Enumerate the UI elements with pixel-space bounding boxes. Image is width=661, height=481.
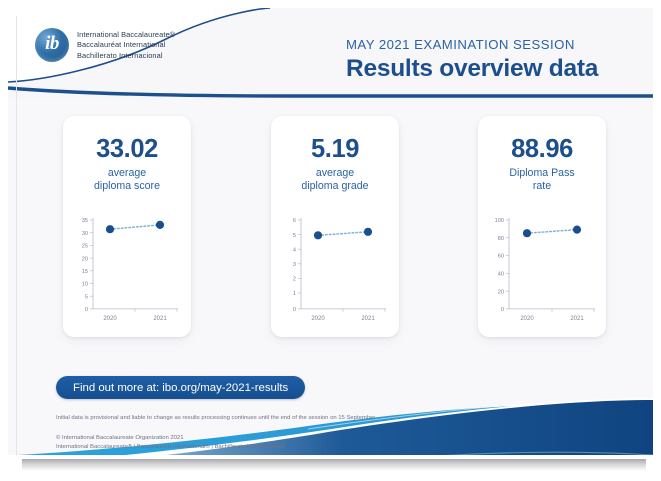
x-tick-2021: 2021 — [570, 316, 584, 322]
svg-text:15: 15 — [82, 269, 88, 275]
y-axis-ticks: 6 5 4 3 2 1 0 — [293, 218, 296, 313]
ib-logo-line-es: Bachillerato Internacional — [77, 51, 175, 60]
stat-caption-line1: Diploma Pass — [478, 167, 606, 180]
infographic-page: ib International Baccalaureate® Baccalau… — [0, 0, 661, 481]
page-title: Results overview data — [346, 55, 598, 83]
svg-text:4: 4 — [293, 247, 296, 253]
svg-text:80: 80 — [498, 236, 504, 242]
data-point-2020 — [106, 225, 114, 233]
stat-caption-line1: average — [271, 167, 399, 180]
svg-text:60: 60 — [498, 254, 504, 260]
trademark-line: International Baccalaureate® | Baccalaur… — [56, 443, 476, 452]
frame-edge-left — [16, 16, 17, 455]
trademark-sep-1: | — [134, 444, 136, 450]
x-tick-2020: 2020 — [311, 316, 325, 322]
stat-card-average-diploma-grade: 5.19 average diploma grade 6 5 4 3 2 1 0 — [271, 116, 399, 337]
data-point-2020 — [314, 231, 322, 239]
trend-chart-diploma-pass-rate: 100 80 60 40 20 0 — [481, 210, 603, 328]
svg-text:0: 0 — [293, 307, 296, 313]
x-tick-2020: 2020 — [520, 316, 534, 322]
svg-text:5: 5 — [85, 294, 88, 300]
svg-text:20: 20 — [498, 289, 504, 295]
page-canvas: ib International Baccalaureate® Baccalau… — [8, 8, 653, 455]
find-out-more-button[interactable]: Find out more at: ibo.org/may-2021-resul… — [56, 376, 305, 399]
data-point-2021 — [156, 221, 164, 229]
trend-chart-average-diploma-grade: 6 5 4 3 2 1 0 — [274, 210, 396, 328]
frame-left — [0, 8, 8, 455]
ib-logo-line-en: International Baccalaureate® — [77, 30, 175, 39]
svg-text:1: 1 — [293, 291, 296, 297]
svg-text:2: 2 — [293, 277, 296, 283]
svg-text:30: 30 — [82, 231, 88, 237]
trend-chart-average-diploma-score: 35 30 25 20 15 10 5 0 — [66, 210, 188, 328]
stat-value: 33.02 — [63, 135, 191, 164]
data-point-2021 — [573, 226, 581, 234]
y-axis-ticks: 35 30 25 20 15 10 5 0 — [82, 218, 88, 313]
page-drop-shadow — [22, 459, 646, 471]
stat-caption: average diploma grade — [271, 167, 399, 194]
data-point-2021 — [364, 228, 372, 236]
svg-text:5: 5 — [293, 233, 296, 239]
svg-text:25: 25 — [82, 244, 88, 250]
ib-logo-mark-text: ib — [35, 28, 69, 62]
x-tick-2021: 2021 — [361, 316, 375, 322]
svg-text:20: 20 — [82, 256, 88, 262]
trademark-fr: Baccalauréat International® — [137, 444, 210, 450]
ib-logo: ib International Baccalaureate® Baccalau… — [35, 28, 175, 62]
stat-caption: average diploma score — [63, 167, 191, 194]
stat-caption: Diploma Pass rate — [478, 167, 606, 194]
trademark-es: Bachillerato Internacional® — [214, 444, 285, 450]
frame-right — [653, 8, 661, 455]
copyright-block: © International Baccalaureate Organizati… — [56, 434, 476, 453]
stat-caption-line1: average — [63, 167, 191, 180]
header-kicker: MAY 2021 EXAMINATION SESSION — [346, 37, 575, 52]
svg-text:0: 0 — [501, 307, 504, 313]
trademark-en: International Baccalaureate® — [56, 444, 132, 450]
footnote-text: Initial data is provisional and liable t… — [56, 414, 476, 423]
y-axis-ticks: 100 80 60 40 20 0 — [495, 218, 504, 313]
x-tick-2021: 2021 — [153, 316, 167, 322]
svg-text:6: 6 — [293, 218, 296, 224]
stat-value: 5.19 — [271, 135, 399, 164]
stat-card-diploma-pass-rate: 88.96 Diploma Pass rate 100 80 60 40 20 … — [478, 116, 606, 337]
svg-text:10: 10 — [82, 282, 88, 288]
trademark-sep-2: | — [211, 444, 213, 450]
stat-value: 88.96 — [478, 135, 606, 164]
ib-logo-badge-icon: ib — [35, 28, 69, 62]
stat-caption-line2: rate — [478, 180, 606, 193]
svg-text:100: 100 — [495, 218, 504, 224]
data-point-2020 — [523, 229, 531, 237]
stat-caption-line2: diploma score — [63, 180, 191, 193]
svg-text:35: 35 — [82, 218, 88, 224]
frame-top — [0, 0, 661, 8]
svg-text:40: 40 — [498, 272, 504, 278]
stat-caption-line2: diploma grade — [271, 180, 399, 193]
ib-logo-wordmark: International Baccalaureate® Baccalauréa… — [77, 30, 175, 60]
svg-text:3: 3 — [293, 262, 296, 268]
ib-logo-line-fr: Baccalauréat International — [77, 40, 175, 49]
header-banner: ib International Baccalaureate® Baccalau… — [8, 8, 653, 100]
copyright-line: © International Baccalaureate Organizati… — [56, 434, 476, 443]
x-tick-2020: 2020 — [103, 316, 117, 322]
stat-card-average-diploma-score: 33.02 average diploma score 35 30 25 20 … — [63, 116, 191, 337]
svg-text:0: 0 — [85, 307, 88, 313]
